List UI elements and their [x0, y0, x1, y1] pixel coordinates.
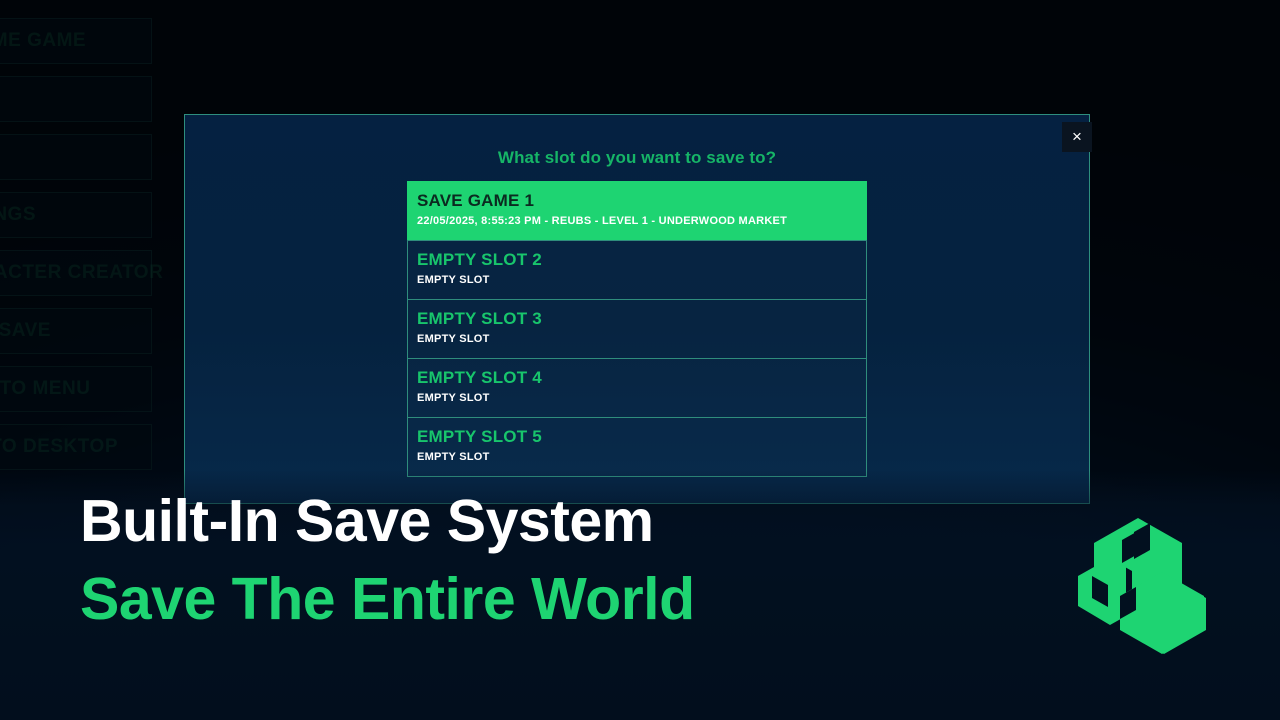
save-slot-title: EMPTY SLOT 3 — [417, 308, 866, 330]
promo-banner: Built-In Save System Save The Entire Wor… — [0, 470, 1280, 720]
save-slot-subtitle: 22/05/2025, 8:55:23 PM - REUBS - LEVEL 1… — [417, 212, 866, 230]
save-slot-1[interactable]: SAVE GAME 1 22/05/2025, 8:55:23 PM - REU… — [407, 181, 867, 241]
promo-subheadline: Save The Entire World — [80, 560, 695, 638]
save-slot-subtitle: EMPTY SLOT — [417, 448, 866, 466]
save-slot-subtitle: EMPTY SLOT — [417, 271, 866, 289]
save-slot-5[interactable]: EMPTY SLOT 5 EMPTY SLOT — [407, 417, 867, 477]
save-slot-title: SAVE GAME 1 — [417, 190, 866, 212]
save-slot-modal: What slot do you want to save to? SAVE G… — [184, 114, 1090, 504]
promo-headline: Built-In Save System — [80, 482, 695, 560]
save-slot-2[interactable]: EMPTY SLOT 2 EMPTY SLOT — [407, 240, 867, 300]
save-slot-title: EMPTY SLOT 2 — [417, 249, 866, 271]
save-slot-list: SAVE GAME 1 22/05/2025, 8:55:23 PM - REU… — [407, 181, 867, 477]
save-slot-subtitle: EMPTY SLOT — [417, 330, 866, 348]
save-slot-3[interactable]: EMPTY SLOT 3 EMPTY SLOT — [407, 299, 867, 359]
modal-title: What slot do you want to save to? — [185, 148, 1089, 168]
save-slot-subtitle: EMPTY SLOT — [417, 389, 866, 407]
game-screen: RESUME GAME SETTINGS CHARACTER CREATOR L… — [0, 0, 1280, 720]
brand-logo-icon — [1076, 510, 1208, 658]
save-slot-title: EMPTY SLOT 5 — [417, 426, 866, 448]
save-slot-4[interactable]: EMPTY SLOT 4 EMPTY SLOT — [407, 358, 867, 418]
close-icon[interactable]: × — [1062, 122, 1092, 152]
promo-text: Built-In Save System Save The Entire Wor… — [80, 482, 695, 638]
save-slot-title: EMPTY SLOT 4 — [417, 367, 866, 389]
